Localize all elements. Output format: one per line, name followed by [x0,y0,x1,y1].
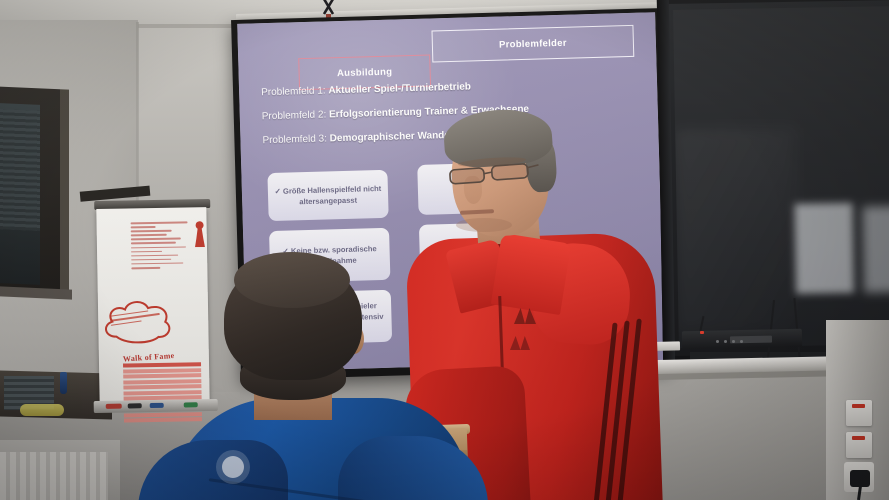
radiator [0,452,108,500]
marker-black [128,403,142,408]
club-crest-red-icon [195,221,205,247]
dvd-button[interactable] [724,340,727,343]
tv-reflection-window-left [794,203,854,294]
slide-bullet-1-lead: Problemfeld 1: [261,85,326,98]
power-plug[interactable] [850,470,870,487]
desk-clutter [20,404,64,416]
tv-reflection-soft [675,128,798,330]
tv-screen [673,6,889,348]
switch-led-icon [852,436,865,440]
shirt-crest-badge-inner [222,456,244,478]
bottle [60,372,67,394]
dvd-button[interactable] [716,340,719,343]
marker-blue [150,403,164,408]
slide-tab-problemfelder-label: Problemfelder [499,37,567,50]
slide-box-left-1-text: ✓ Größe Hallenspielfeld nicht altersange… [274,183,383,208]
switch-led-icon [852,404,865,408]
jacket-collar-right [491,233,571,315]
slide-tab-problemfelder[interactable]: Problemfelder [431,25,634,63]
tv-reflection-window-right [863,206,889,293]
slide-bullet-3-lead: Problemfeld 3: [262,133,327,146]
slide-box-left-1: ✓ Größe Hallenspielfeld nicht altersange… [267,170,388,221]
power-led-icon [700,331,704,334]
dvd-button[interactable] [740,340,743,343]
photo-scene: Walk of Fame Ausbildung [0,0,889,500]
dvd-tray[interactable] [730,336,772,344]
presenter-chin [456,218,512,232]
left-window-blind [0,109,40,231]
slide-bullet-2-lead: Problemfeld 2: [262,109,327,122]
seated-hair-crown [234,252,350,308]
seated-person-blue-shirt: G WEIGHEI [168,258,468,500]
slide-tab-ausbildung-label: Ausbildung [337,66,393,79]
marker-red [106,404,122,409]
slide-tab-row: Ausbildung Problemfelder [264,27,635,81]
shoulder-right [338,436,488,500]
dvd-button[interactable] [732,340,735,343]
